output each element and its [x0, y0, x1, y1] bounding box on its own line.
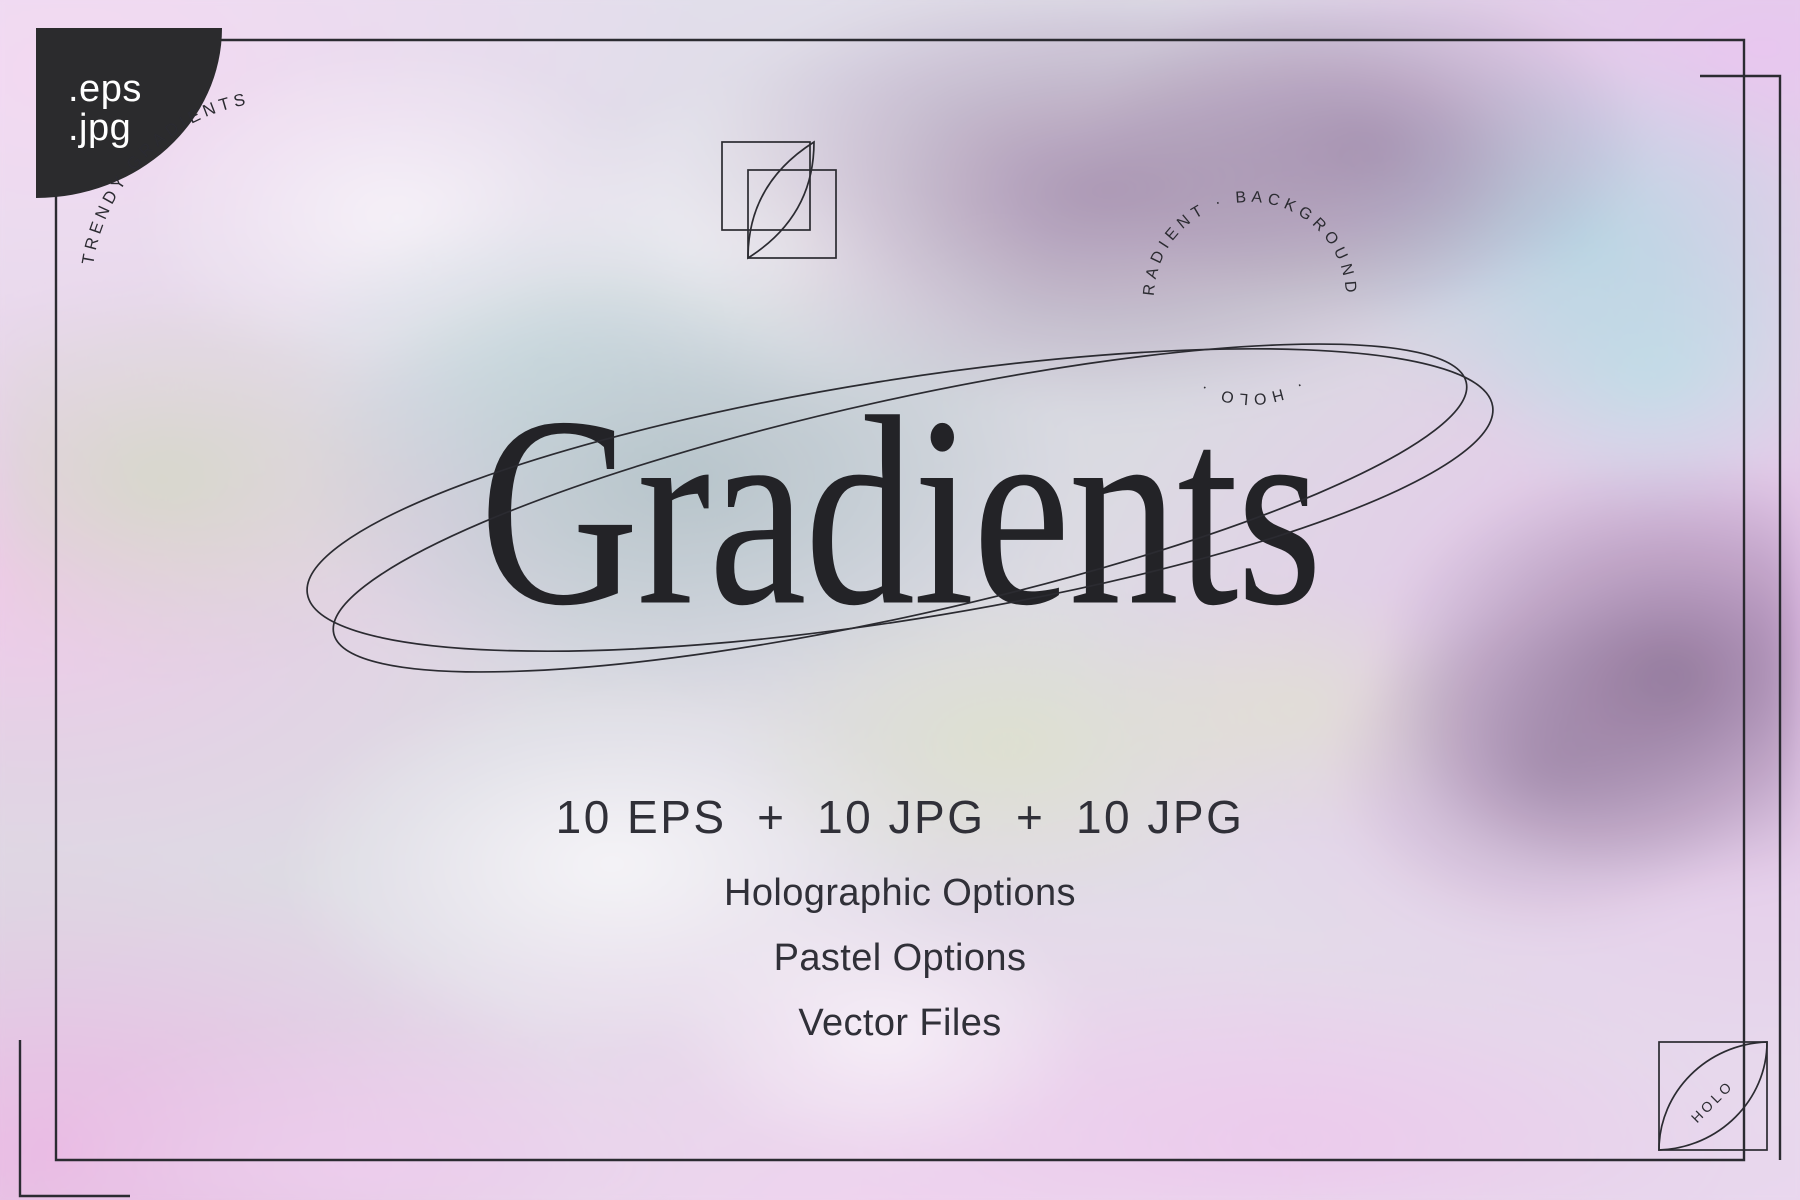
logo-square-front	[748, 170, 836, 258]
title-block: Gradients	[0, 300, 1800, 700]
stamp-top-textpath: GRADIENT · BACKGROUNDS	[1140, 188, 1359, 298]
orbit-ellipse-outer	[289, 300, 1512, 700]
logo-lens-shape	[748, 142, 814, 258]
info-block: 10 EPS + 10 JPG + 10 JPG Holographic Opt…	[0, 790, 1800, 1067]
gradient-poster: .eps .jpg TRENDY GRADIENTS GRADIENT · BA…	[0, 0, 1800, 1200]
formats-line: 10 EPS + 10 JPG + 10 JPG	[0, 790, 1800, 844]
trendy-gradients-text: TRENDY GRADIENTS	[78, 89, 251, 266]
stamp-top-text: GRADIENT · BACKGROUNDS	[1140, 188, 1359, 298]
trendy-gradients-textpath: TRENDY GRADIENTS	[78, 89, 251, 266]
holo-badge-label: HOLO	[1688, 1077, 1737, 1126]
orbit-ellipses	[0, 300, 1800, 700]
trendy-gradients-arc-label: TRENDY GRADIENTS	[30, 28, 330, 288]
option-line-vector: Vector Files	[0, 1002, 1800, 1045]
overlapping-squares-lens-icon	[718, 138, 858, 278]
orbit-ellipse-inner	[310, 300, 1489, 700]
option-line-holographic: Holographic Options	[0, 872, 1800, 915]
holo-corner-badge: HOLO	[1657, 1040, 1769, 1152]
option-line-pastel: Pastel Options	[0, 937, 1800, 980]
